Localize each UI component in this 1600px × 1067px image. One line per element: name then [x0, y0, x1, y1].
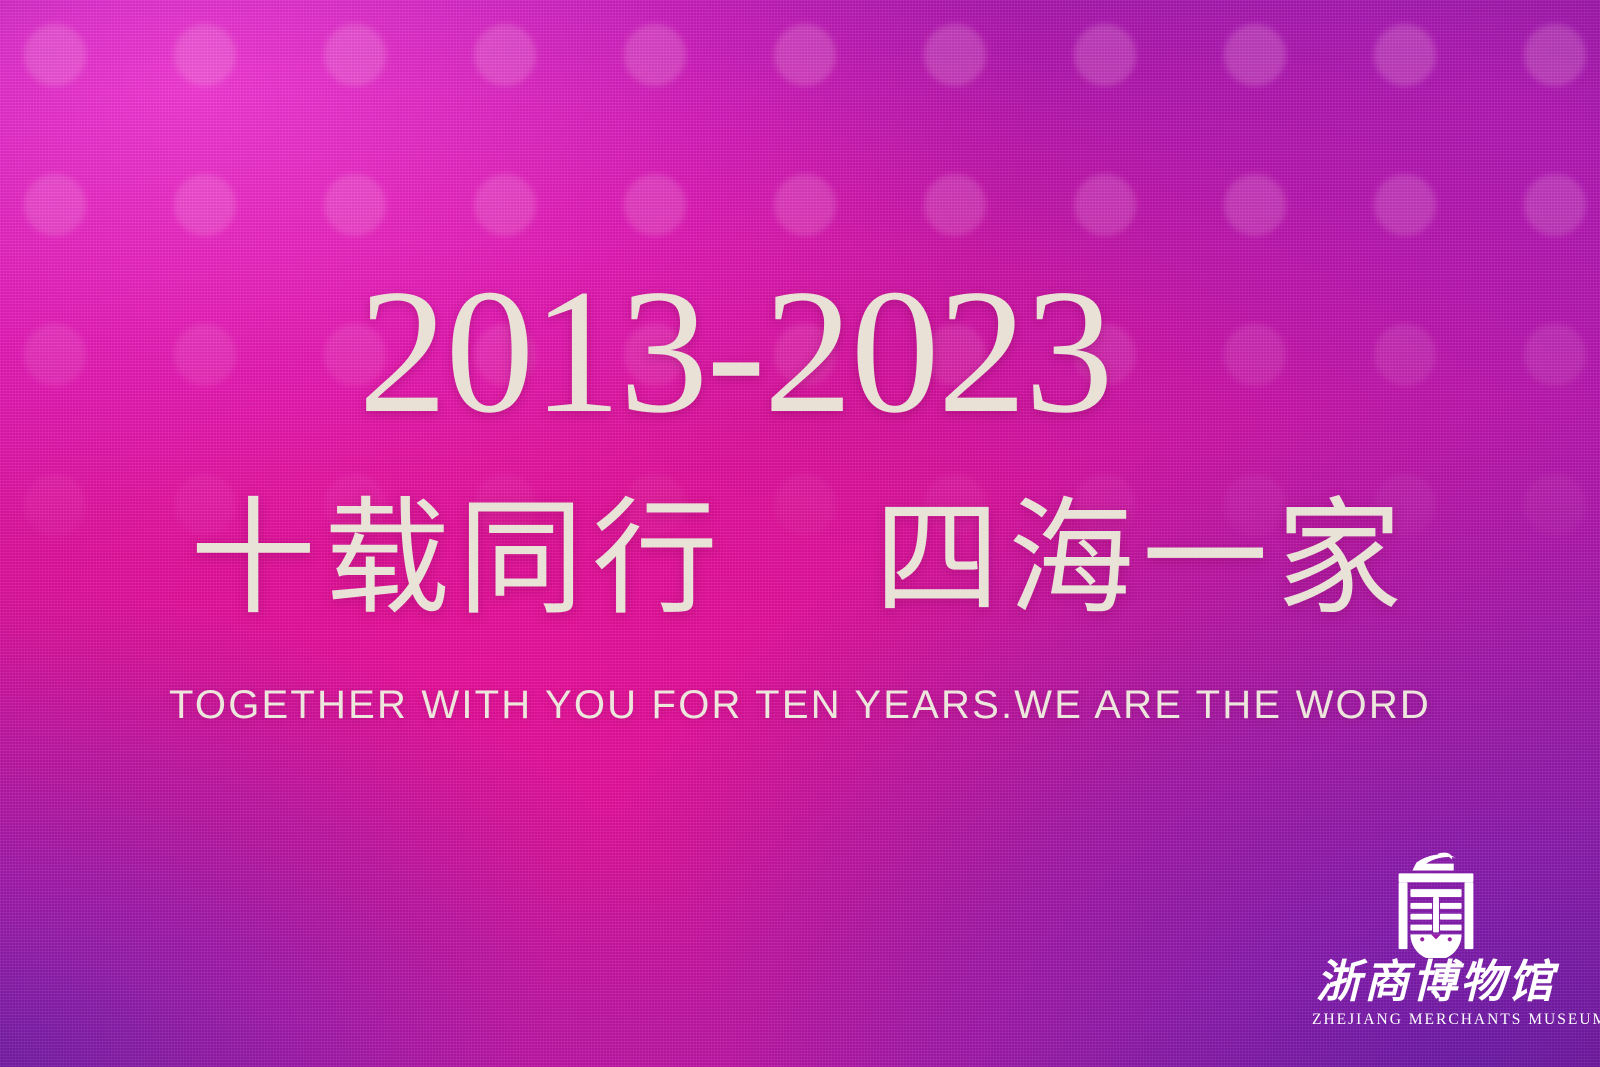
logo-wordmark-english: ZHEJIANG MERCHANTS MUSEUM [1312, 1012, 1560, 1028]
anniversary-years: 2013-2023 [0, 262, 1600, 440]
headline-chinese: 十载同行 四海一家 [0, 496, 1600, 622]
logo-wordmark-chinese: 浙商博物馆 [1312, 958, 1560, 1005]
event-backdrop-banner: 2013-2023 十载同行 四海一家 TOGETHER WITH YOU FO… [0, 0, 1600, 1067]
headline-chinese-right: 四海一家 [874, 485, 1410, 632]
shang-seal-icon [1377, 840, 1495, 958]
banner-content: 2013-2023 十载同行 四海一家 TOGETHER WITH YOU FO… [0, 0, 1600, 1067]
headline-chinese-left: 十载同行 [190, 485, 726, 632]
tagline-english: TOGETHER WITH YOU FOR TEN YEARS.WE ARE T… [0, 685, 1600, 725]
museum-logo: 浙商博物馆 ZHEJIANG MERCHANTS MUSEUM [1312, 840, 1560, 1045]
